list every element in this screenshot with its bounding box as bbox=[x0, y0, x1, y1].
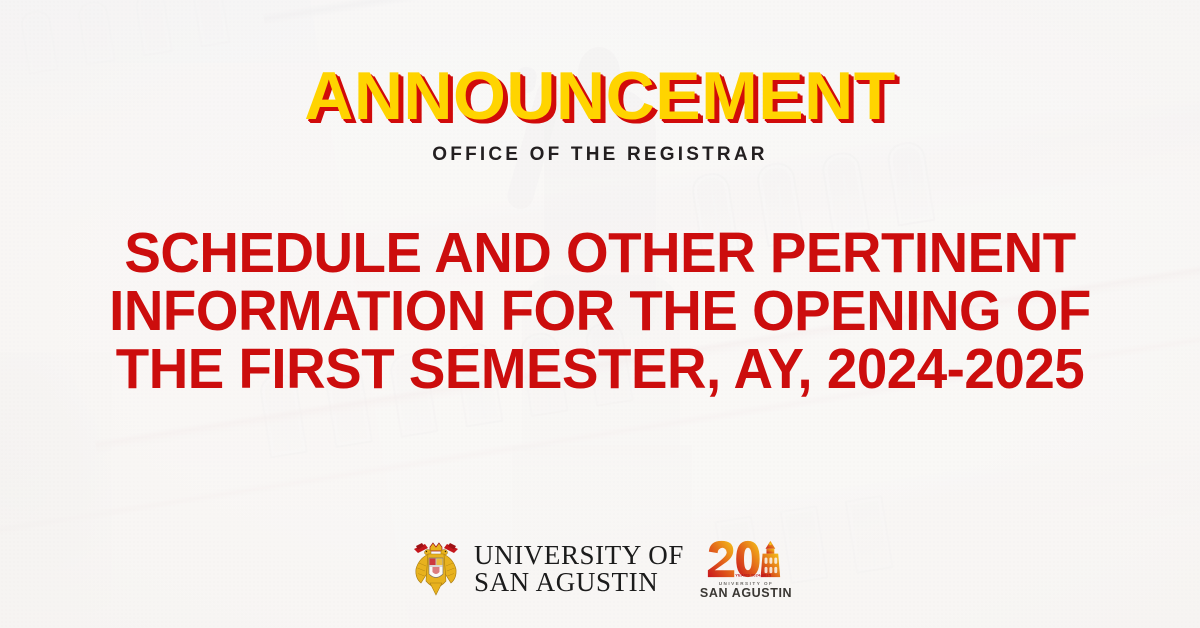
headline: SCHEDULE AND OTHER PERTINENT INFORMATION… bbox=[24, 224, 1176, 398]
anniversary-years-label: YEARS bbox=[735, 573, 750, 578]
university-crest-icon bbox=[411, 541, 461, 597]
wordmark-line-1: UNIVERSITY OF bbox=[474, 542, 684, 569]
anniversary-years-range: 2024-2025 bbox=[751, 573, 772, 578]
anniversary-name: SAN AGUSTIN bbox=[700, 586, 792, 600]
wordmark-line-2: SAN AGUSTIN bbox=[474, 569, 684, 596]
anniversary-20-mark: YEARS 2024-2025 bbox=[704, 538, 788, 580]
logo-lockup: UNIVERSITY OF SAN AGUSTIN bbox=[411, 538, 789, 600]
office-subtitle: OFFICE OF THE REGISTRAR bbox=[432, 144, 767, 166]
banner-content: ANNOUNCEMENT OFFICE OF THE REGISTRAR SCH… bbox=[0, 0, 1200, 628]
announcement-banner: ANNOUNCEMENT OFFICE OF THE REGISTRAR SCH… bbox=[0, 0, 1200, 628]
headline-line-1: SCHEDULE AND OTHER PERTINENT bbox=[24, 224, 1176, 282]
headline-line-2: INFORMATION FOR THE OPENING OF bbox=[24, 282, 1176, 340]
headline-line-3: THE FIRST SEMESTER, AY, 2024-2025 bbox=[24, 340, 1176, 398]
anniversary-logo: YEARS 2024-2025 UNIVERSITY OF SAN AGUSTI… bbox=[703, 538, 789, 600]
university-wordmark: UNIVERSITY OF SAN AGUSTIN bbox=[474, 542, 684, 596]
announcement-title: ANNOUNCEMENT bbox=[304, 62, 896, 130]
